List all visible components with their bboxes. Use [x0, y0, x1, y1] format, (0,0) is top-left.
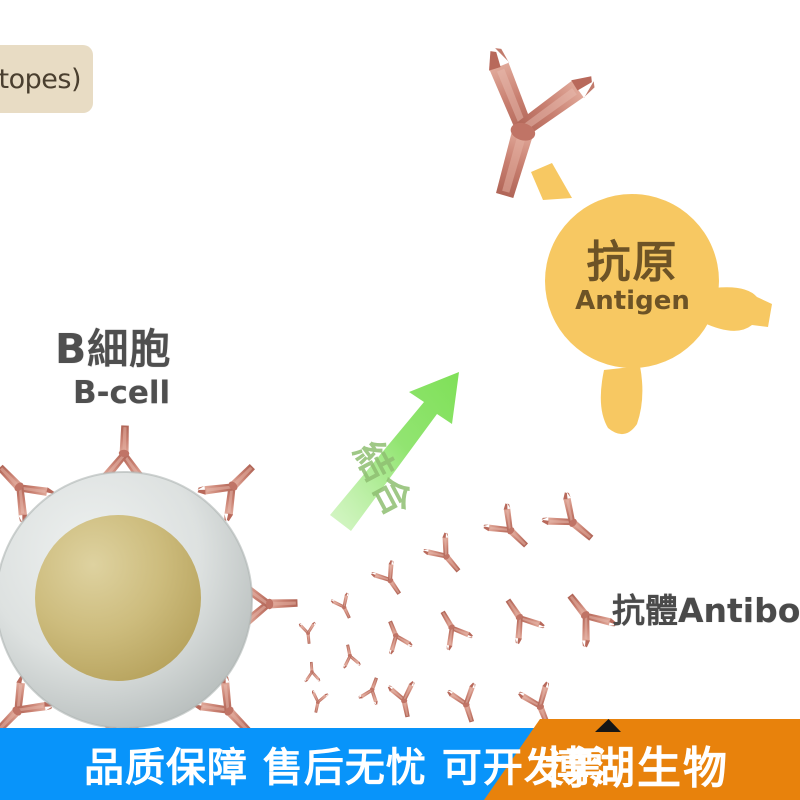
antigen-shape — [531, 163, 772, 434]
antibody-label: 抗體Antibo — [612, 584, 800, 632]
antibody-bound-to-antigen — [446, 41, 603, 213]
bcell-shape — [0, 425, 298, 773]
promo-banner-brand: 博湖生物 — [545, 728, 729, 800]
promo-banner-slogan: 品质保障 售后无忧 可开发票 — [84, 728, 606, 800]
promo-banner: 品质保障 售后无忧 可开发票 博湖生物 — [0, 728, 800, 800]
bcell-label-cn: B細胞 — [55, 325, 171, 373]
bcell-label-en: B-cell — [73, 375, 171, 412]
diagram-canvas: Epitopes) — [0, 0, 800, 800]
bcell-label: B細胞 B-cell — [55, 325, 171, 412]
